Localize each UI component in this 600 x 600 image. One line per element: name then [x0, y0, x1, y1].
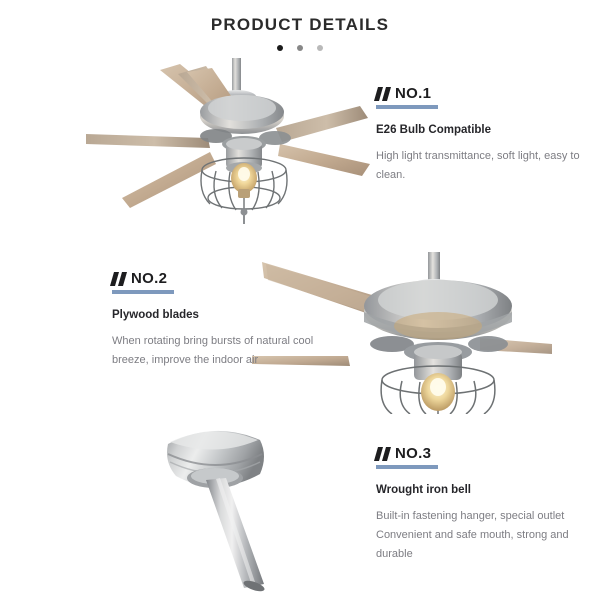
- feature-number-marker-1: NO.1: [376, 86, 438, 114]
- feature-underline-1: [376, 105, 438, 109]
- feature-number-label-1: NO.1: [395, 86, 431, 102]
- pagination-dot-1[interactable]: [277, 45, 283, 51]
- feature-underline-2: [112, 290, 174, 294]
- pagination-dot-2[interactable]: [297, 45, 303, 51]
- product-image-fan-full: [30, 52, 375, 257]
- product-image-bell-canopy: [132, 416, 372, 594]
- feature-heading-2: Plywood blades: [112, 308, 327, 323]
- product-details-page: PRODUCT DETAILS: [0, 0, 600, 600]
- pagination-dot-3[interactable]: [317, 45, 323, 51]
- feature-number-row-1: NO.1: [376, 86, 438, 102]
- feature-block-1: NO.1 E26 Bulb Compatible High light tran…: [376, 86, 591, 185]
- feature-body-1: High light transmittance, soft light, ea…: [376, 147, 591, 185]
- feature-block-2: NO.2 Plywood blades When rotating bring …: [112, 271, 327, 370]
- feature-number-marker-3: NO.3: [376, 446, 438, 474]
- pagination-dots: [0, 45, 600, 51]
- page-title: PRODUCT DETAILS: [0, 14, 600, 36]
- feature-number-row-3: NO.3: [376, 446, 438, 462]
- feature-body-2: When rotating bring bursts of natural co…: [112, 332, 327, 370]
- feature-number-marker-2: NO.2: [112, 271, 174, 299]
- feature-heading-3: Wrought iron bell: [376, 483, 591, 498]
- slash-bars-icon: [376, 447, 389, 461]
- feature-number-label-3: NO.3: [395, 446, 431, 462]
- feature-block-3: NO.3 Wrought iron bell Built-in fastenin…: [376, 446, 591, 564]
- feature-heading-1: E26 Bulb Compatible: [376, 123, 591, 138]
- feature-underline-3: [376, 465, 438, 469]
- feature-body-3: Built-in fastening hanger, special outle…: [376, 507, 591, 564]
- page-header: PRODUCT DETAILS: [0, 0, 600, 51]
- slash-bars-icon: [112, 272, 125, 286]
- feature-number-row-2: NO.2: [112, 271, 174, 287]
- feature-number-label-2: NO.2: [131, 271, 167, 287]
- slash-bars-icon: [376, 87, 389, 101]
